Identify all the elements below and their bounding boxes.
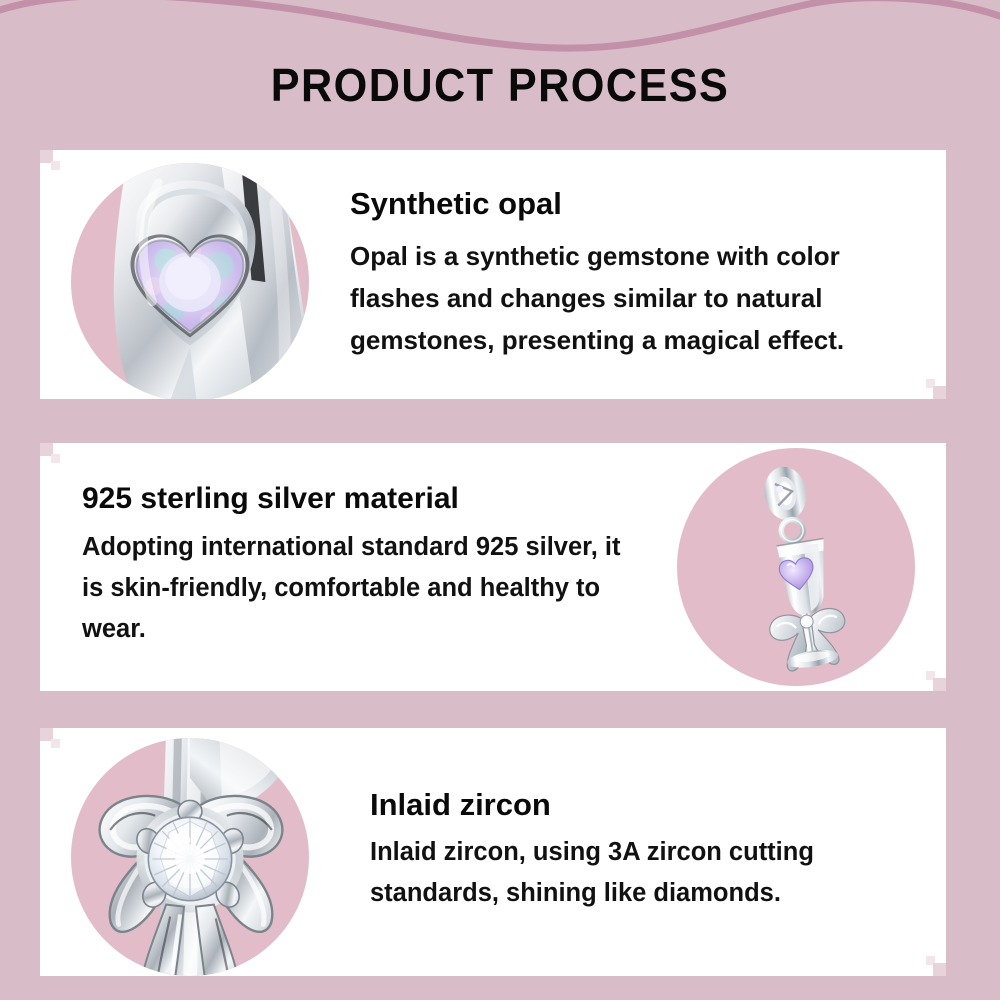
product-process-infographic: PRODUCT PROCESS bbox=[0, 0, 1000, 1000]
feature-card-inlaid-zircon: Inlaid zircon Inlaid zircon, using 3A zi… bbox=[40, 728, 946, 976]
card-body-text: Inlaid zircon, using 3A zircon cutting s… bbox=[370, 832, 918, 915]
feature-card-synthetic-opal: Synthetic opal Opal is a synthetic gemst… bbox=[40, 150, 946, 399]
wave-stroke bbox=[0, 0, 1000, 48]
card-text-block: 925 sterling silver material Adopting in… bbox=[40, 483, 646, 650]
card-body-text: Adopting international standard 925 silv… bbox=[82, 527, 636, 651]
heart-opal-charm-photo bbox=[71, 163, 309, 400]
card-text-block: Inlaid zircon Inlaid zircon, using 3A zi… bbox=[340, 789, 946, 914]
feature-card-sterling-silver: 925 sterling silver material Adopting in… bbox=[40, 443, 946, 691]
card-media-left bbox=[40, 728, 340, 976]
champagne-glass-charm-photo bbox=[677, 448, 915, 686]
card-heading: 925 sterling silver material bbox=[82, 483, 636, 515]
corner-notch-bottom-right bbox=[926, 956, 935, 965]
card-heading: Synthetic opal bbox=[350, 188, 930, 221]
corner-notch-bottom-right bbox=[926, 379, 935, 388]
card-media-right bbox=[646, 443, 946, 691]
card-text-block: Synthetic opal Opal is a synthetic gemst… bbox=[340, 188, 946, 361]
corner-notch-top-left bbox=[51, 454, 60, 463]
corner-notch-top-left bbox=[51, 161, 60, 170]
corner-notch-bottom-right bbox=[926, 671, 935, 680]
page-title: PRODUCT PROCESS bbox=[30, 62, 970, 108]
card-body-text: Opal is a synthetic gemstone with color … bbox=[350, 235, 930, 361]
card-media-left bbox=[40, 150, 340, 399]
card-heading: Inlaid zircon bbox=[370, 789, 918, 822]
bow-zircon-closeup-photo bbox=[71, 738, 309, 976]
corner-notch-top-left bbox=[51, 739, 60, 748]
